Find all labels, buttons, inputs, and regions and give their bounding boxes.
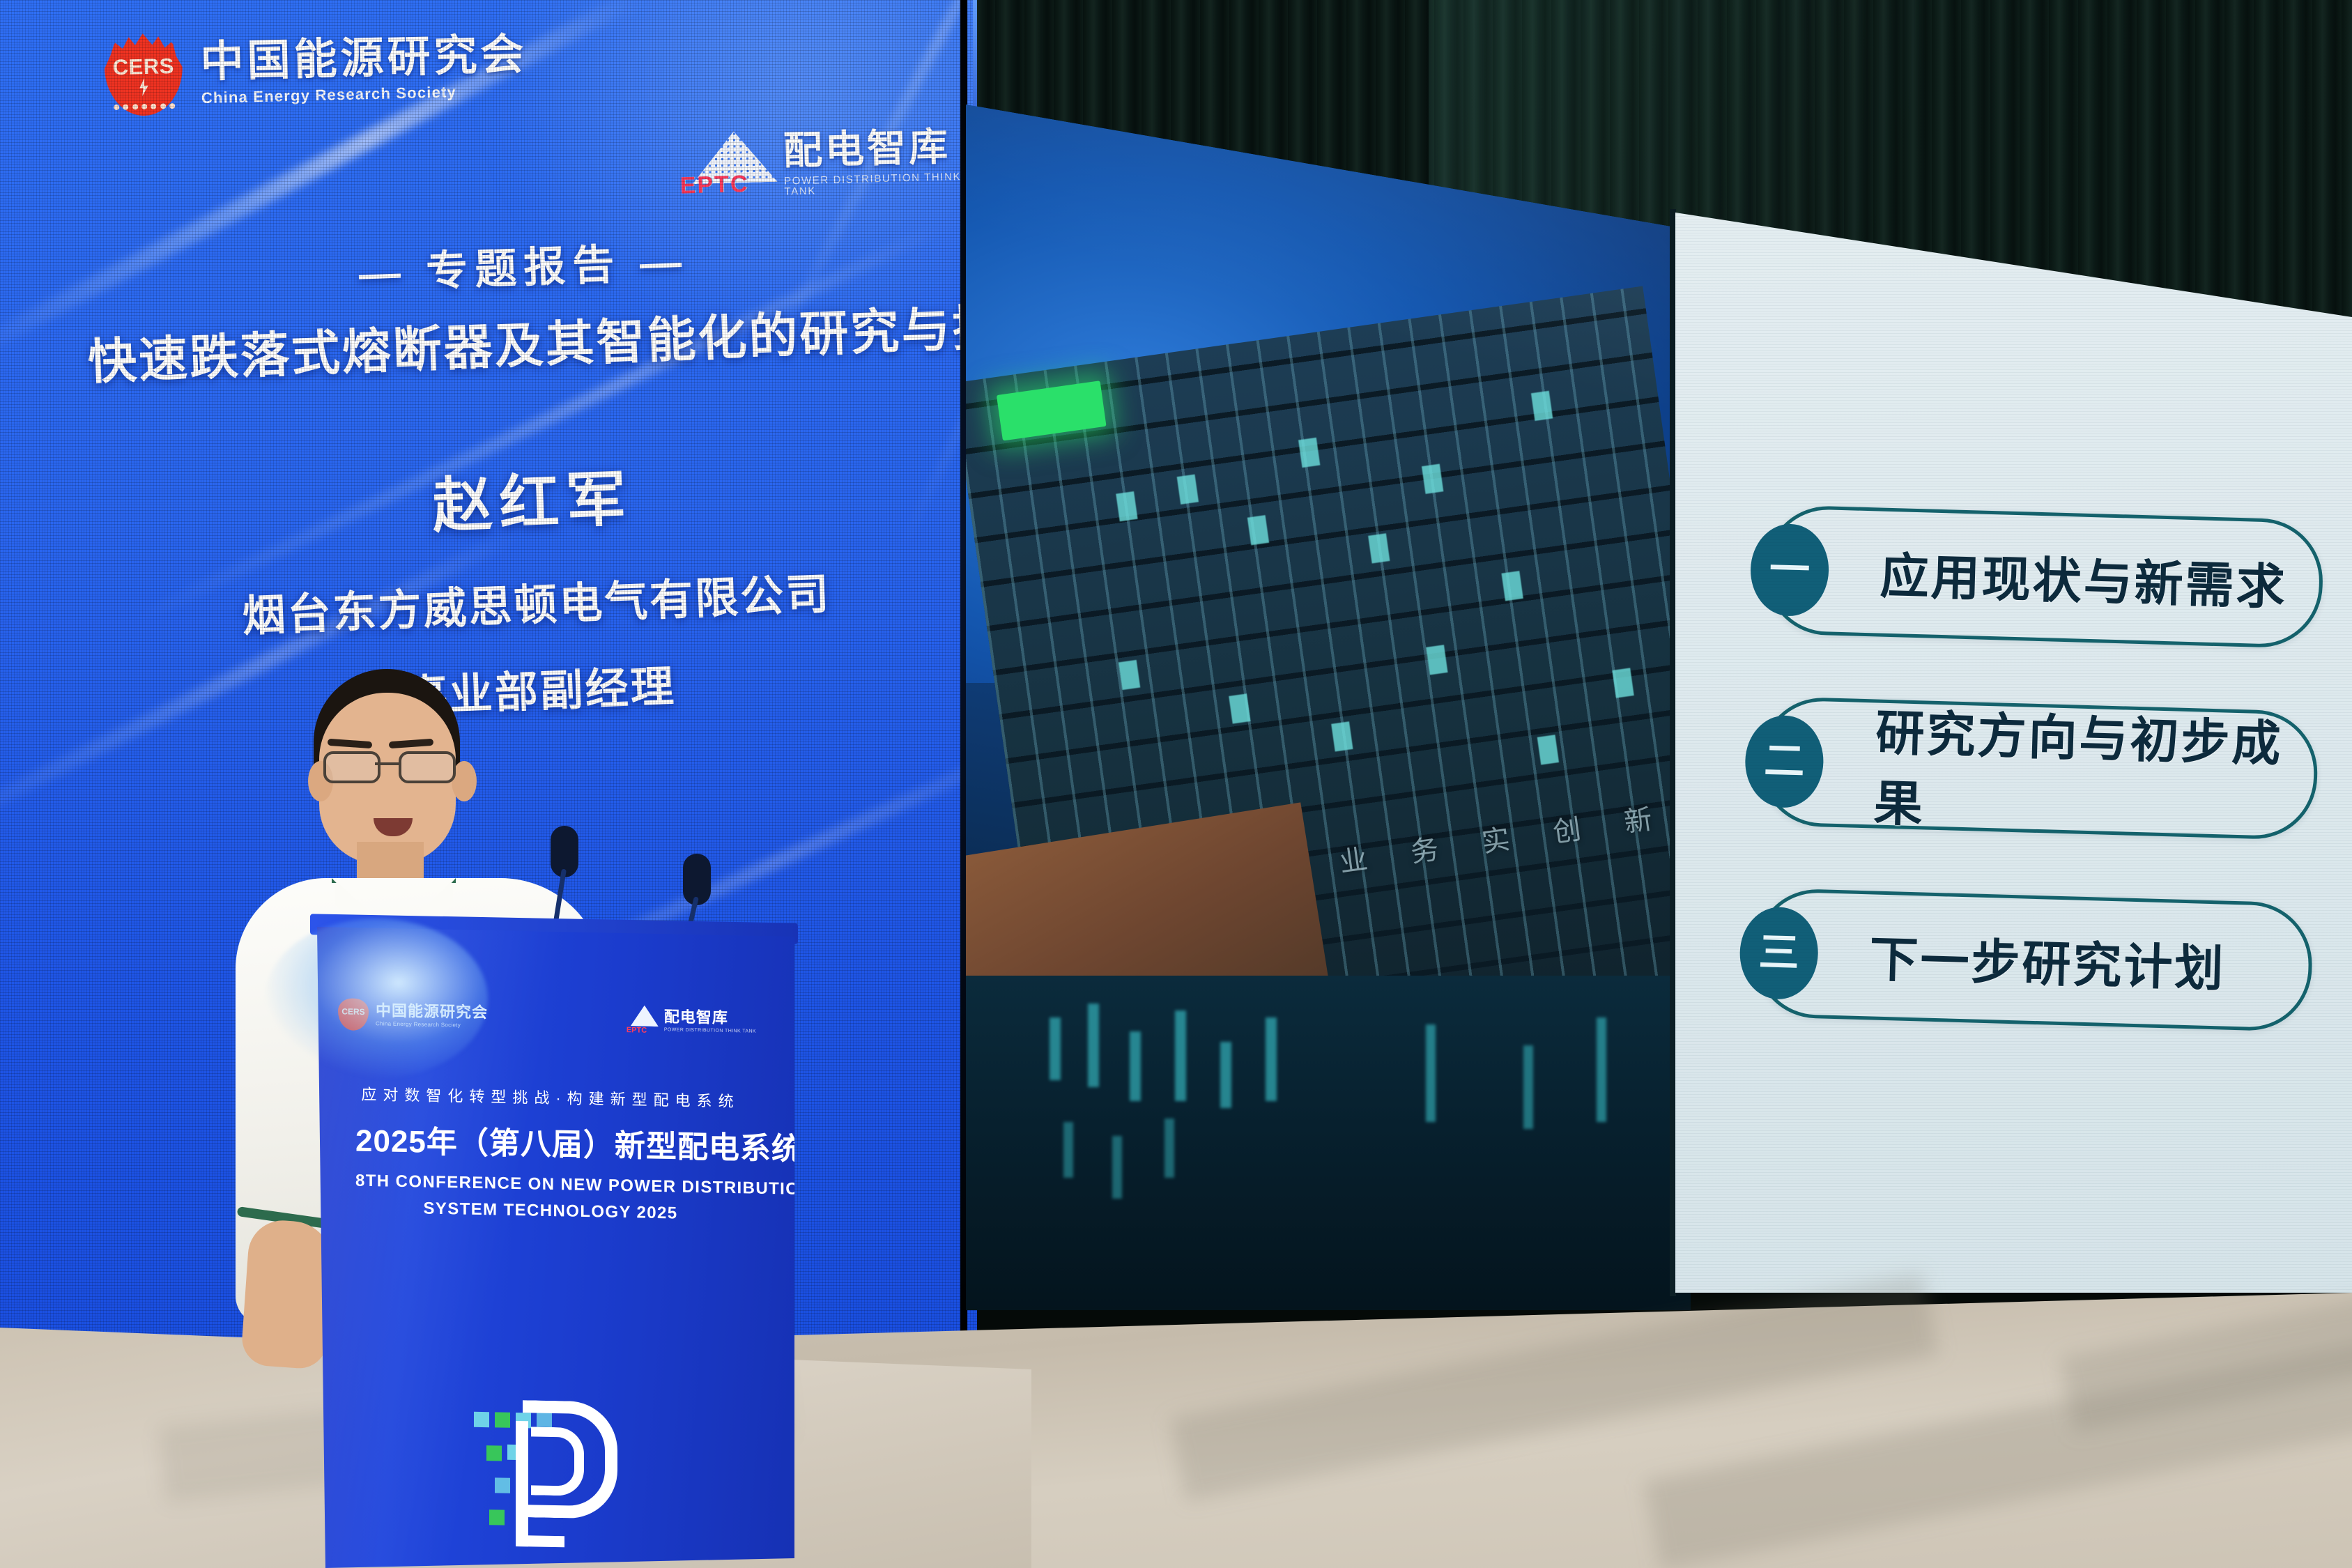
talk-title: 快速跌落式熔断器及其智能化的研究与探索: [86, 299, 966, 394]
podium-cohost-logo: EPTC 配电智库 POWER DISTRIBUTION THINK TANK: [627, 1005, 756, 1037]
slide-text-block: — 专题报告 — 快速跌落式熔断器及其智能化的研究与探索 赵红军 烟台东方威思顿…: [84, 217, 977, 735]
podium-pd-monogram-icon: [474, 1392, 634, 1568]
slide-kicker: — 专题报告 —: [84, 217, 963, 312]
agenda-item-3[interactable]: 三 下一步研究计划: [1753, 888, 2314, 1032]
organizer-logo-block: CERS 中国能源研究会 China Energy Research Socie…: [104, 24, 529, 117]
agenda-index-badge: 二: [1744, 714, 1825, 808]
podium-cohost-cn: 配电智库: [664, 1009, 756, 1027]
agenda-item-label: 研究方向与初步成果: [1873, 693, 2316, 847]
cohost-logo-block: EPTC 配电智库 POWER DISTRIBUTION THINK TANK: [679, 125, 977, 199]
podium-conference-title-en-1: 8TH CONFERENCE ON NEW POWER DISTRIBUTION: [355, 1171, 746, 1199]
organizer-name-cn: 中国能源研究会: [200, 33, 528, 84]
eptc-abbr-text: EPTC: [679, 171, 749, 200]
arm: [240, 1218, 335, 1370]
cers-abbr-text: CERS: [104, 54, 183, 81]
agenda-list: 一 应用现状与新需求 二 研究方向与初步成果 三 下一步研究计划: [1751, 505, 2325, 1095]
podium-conference-title-cn: 2025年（第八届）新型配电系统技术大会: [355, 1116, 746, 1168]
eptc-abbr-text: EPTC: [627, 1026, 647, 1035]
speaker-organization: 烟台东方威思顿电气有限公司: [96, 553, 976, 649]
agenda-index-badge: 三: [1739, 906, 1820, 1000]
podium-conference-title-en-2: SYSTEM TECHNOLOGY 2025: [355, 1198, 746, 1225]
agenda-index-badge: 一: [1749, 523, 1830, 617]
cers-flame-icon: CERS: [104, 33, 184, 117]
eptc-pyramid-icon: EPTC: [679, 130, 769, 199]
agenda-item-label: 下一步研究计划: [1868, 920, 2227, 1000]
agenda-item-label: 应用现状与新需求: [1880, 537, 2289, 619]
podium-title-block: 应对数智化转型挑战·构建新型配电系统 2025年（第八届）新型配电系统技术大会 …: [355, 1082, 746, 1225]
podium-cohost-en: POWER DISTRIBUTION THINK TANK: [664, 1027, 756, 1034]
cers-dot-row: [114, 103, 175, 110]
speaker-name: 赵红军: [92, 436, 973, 557]
agenda-item-2[interactable]: 二 研究方向与初步成果: [1758, 696, 2319, 840]
agenda-item-1[interactable]: 一 应用现状与新需求: [1764, 505, 2325, 649]
glasses-icon: [323, 751, 456, 779]
podium-light-glow: [265, 918, 488, 1079]
organizer-name-en: China Energy Research Society: [201, 82, 528, 105]
conference-stage-scene: CERS 中国能源研究会 China Energy Research Socie…: [0, 0, 2352, 1568]
cohost-name-cn: 配电智库: [783, 126, 977, 170]
podium-slogan: 应对数智化转型挑战·构建新型配电系统: [355, 1082, 746, 1112]
panel-seam: [1670, 209, 1676, 1296]
eptc-pyramid-icon: EPTC: [627, 1005, 659, 1035]
